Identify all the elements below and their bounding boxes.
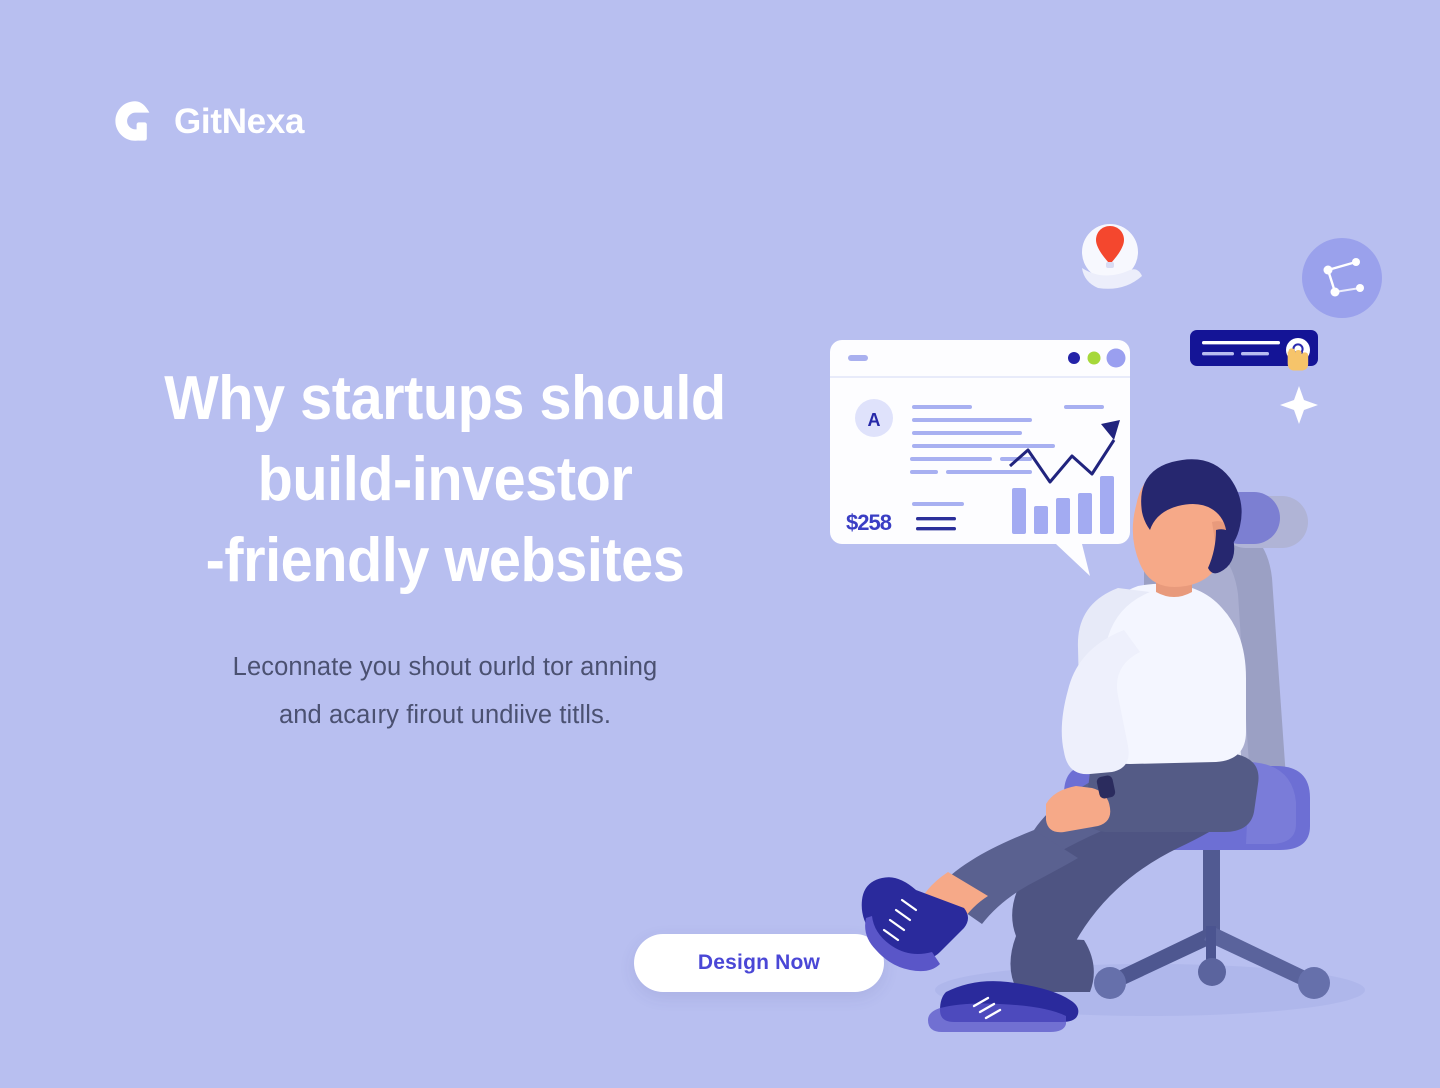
headline-line-2: build-investor xyxy=(147,439,742,520)
caster-right xyxy=(1298,967,1330,999)
caster-left xyxy=(1094,967,1126,999)
share-bubble xyxy=(1302,238,1382,318)
window-dot-2 xyxy=(1088,352,1101,365)
search-card[interactable] xyxy=(1190,330,1318,370)
avatar-initial: A xyxy=(868,410,881,430)
window-dot-1 xyxy=(1068,352,1080,364)
sparkle-star-icon xyxy=(1280,386,1318,424)
subhead-line-1: Leconnate you shout ourld tor anning xyxy=(233,653,658,681)
subhead-line-2: and acaıry firout undiive titlls. xyxy=(279,701,611,729)
brand-name: GitNexa xyxy=(174,104,304,139)
hero-subtitle: Leconnate you shout ourld tor anning and… xyxy=(125,644,765,740)
dashboard-card: A $258 xyxy=(830,340,1130,576)
headline-line-1: Why startups should xyxy=(147,358,742,439)
metric-value: $258 xyxy=(846,510,892,535)
headline-line-3: -friendly websites xyxy=(147,520,742,601)
caster-center xyxy=(1198,958,1226,986)
hero-banner: GitNexa Why startups should build-invest… xyxy=(0,0,1440,1088)
map-bubble xyxy=(1082,224,1142,289)
hero-illustration: A $258 xyxy=(820,200,1440,1030)
page-title: Why startups should build-investor -frie… xyxy=(147,358,742,602)
window-menu-icon xyxy=(848,355,868,361)
gitnexa-g-mark-icon xyxy=(112,98,158,144)
window-dot-3 xyxy=(1107,349,1126,368)
brand-logo[interactable]: GitNexa xyxy=(112,98,304,144)
hero-copy: Why startups should build-investor -frie… xyxy=(125,358,765,740)
